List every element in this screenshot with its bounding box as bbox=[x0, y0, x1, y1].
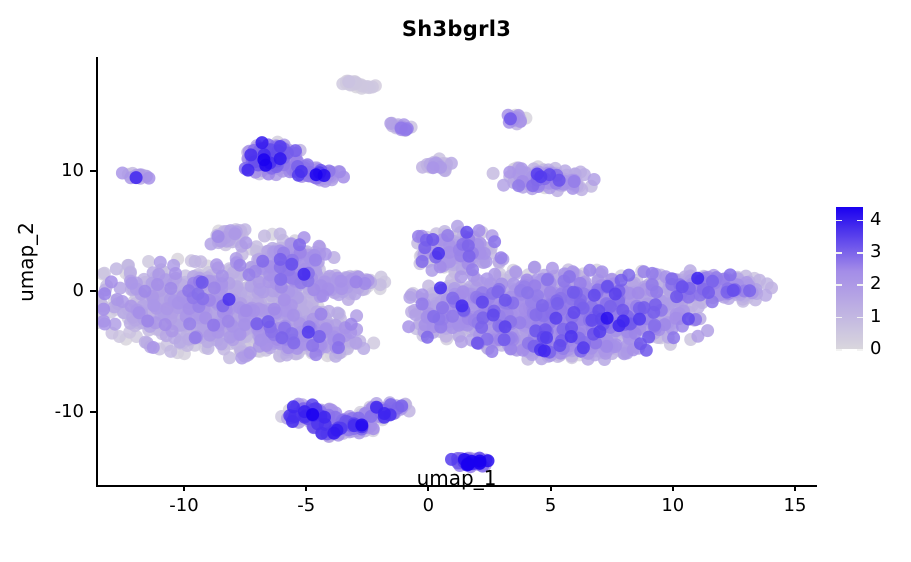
colorbar-tick-mark bbox=[836, 317, 842, 319]
colorbar-tick-label: 4 bbox=[870, 209, 900, 231]
colorbar-tick-mark bbox=[857, 349, 863, 351]
colorbar-tick-label: 3 bbox=[870, 241, 900, 263]
x-tick-label: 0 bbox=[398, 495, 458, 517]
colorbar-tick-mark bbox=[836, 284, 842, 286]
y-axis-spine bbox=[96, 57, 98, 487]
x-tick-label: -10 bbox=[154, 495, 214, 517]
colorbar-tick-mark bbox=[857, 317, 863, 319]
colorbar: 01234 bbox=[836, 207, 863, 349]
colorbar-tick-mark bbox=[836, 252, 842, 254]
x-tick-label: 5 bbox=[521, 495, 581, 517]
colorbar-tick-mark bbox=[857, 220, 863, 222]
umap-figure: Sh3bgrl3 -10-5051015 100-10 umap_1 umap_… bbox=[0, 0, 911, 562]
scatter-plot-canvas bbox=[96, 57, 817, 487]
y-tick-label: 10 bbox=[22, 160, 84, 182]
y-tick-label: -10 bbox=[22, 401, 84, 423]
x-tick-label: 10 bbox=[643, 495, 703, 517]
y-axis-label: umap_2 bbox=[14, 182, 38, 342]
colorbar-tick-mark bbox=[857, 284, 863, 286]
colorbar-tick-label: 1 bbox=[870, 306, 900, 328]
x-tick-label: -5 bbox=[276, 495, 336, 517]
y-tick-mark bbox=[90, 170, 96, 172]
page-title: Sh3bgrl3 bbox=[96, 16, 817, 42]
x-axis-label: umap_1 bbox=[96, 466, 817, 490]
colorbar-tick-mark bbox=[836, 220, 842, 222]
y-tick-mark bbox=[90, 290, 96, 292]
colorbar-gradient bbox=[836, 207, 863, 349]
colorbar-tick-label: 2 bbox=[870, 273, 900, 295]
plot-axes: -10-5051015 100-10 bbox=[96, 57, 817, 487]
colorbar-tick-mark bbox=[857, 252, 863, 254]
x-tick-label: 15 bbox=[765, 495, 825, 517]
y-tick-mark bbox=[90, 411, 96, 413]
scatter-points-layer bbox=[96, 57, 817, 487]
colorbar-tick-mark bbox=[836, 349, 842, 351]
colorbar-tick-label: 0 bbox=[870, 338, 900, 360]
